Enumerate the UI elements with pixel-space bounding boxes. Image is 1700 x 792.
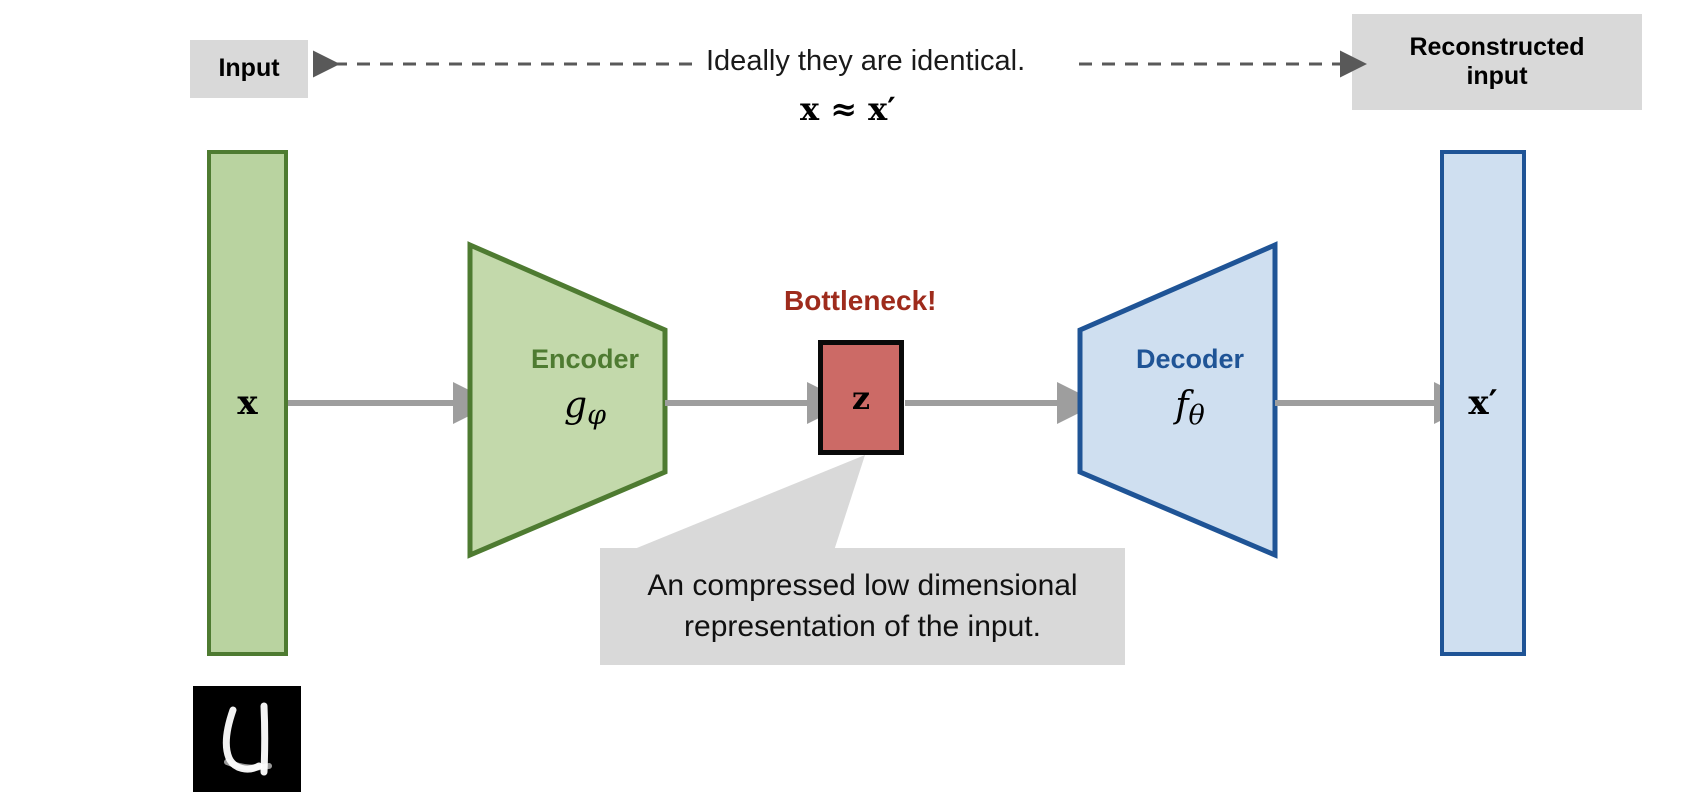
encoder-label-text: Encoder: [531, 344, 639, 374]
callout-line-2: representation of the input.: [684, 607, 1041, 647]
input-digit-glyph: [193, 686, 301, 792]
input-symbol: x: [237, 383, 257, 423]
arrow-bottleneck-to-decoder: [905, 385, 1080, 421]
identical-note: Ideally they are identical.: [706, 45, 1025, 78]
identical-math: x ≈ x′: [800, 90, 896, 128]
reconstructed-label-chip: Reconstructed input: [1352, 14, 1642, 110]
decoder-label: Decoder: [1105, 344, 1275, 375]
callout-line-1: An compressed low dimensional: [647, 566, 1077, 606]
input-digit-image: [193, 686, 301, 792]
arrow-decoder-to-output: [1275, 385, 1455, 421]
callout-box: An compressed low dimensional representa…: [600, 548, 1125, 665]
autoencoder-diagram: Input Reconstructed input Ideally they a…: [0, 0, 1700, 792]
encoder-math: gφ: [505, 385, 665, 426]
dashed-arrow-right: [1075, 46, 1365, 86]
bottleneck-title-text: Bottleneck!: [784, 285, 936, 316]
input-label-chip: Input: [190, 40, 308, 98]
bottleneck-title: Bottleneck!: [784, 285, 936, 317]
output-vector-bar: x′: [1440, 150, 1526, 656]
input-vector-bar: x: [207, 150, 288, 656]
decoder-math: fθ: [1105, 385, 1275, 426]
input-label-text: Input: [218, 54, 279, 84]
encoder-math-subscript: φ: [587, 400, 606, 431]
identical-note-text: Ideally they are identical.: [706, 45, 1025, 77]
reconstructed-label-text: Reconstructed input: [1409, 33, 1584, 92]
identical-math-text: x ≈ x′: [800, 90, 896, 128]
encoder-math-base: g: [564, 385, 587, 426]
decoder-math-base: f: [1175, 385, 1188, 426]
bottleneck-box: z: [818, 340, 904, 455]
decoder-label-text: Decoder: [1136, 344, 1244, 374]
arrow-encoder-to-bottleneck: [665, 385, 830, 421]
decoder-math-subscript: θ: [1189, 400, 1205, 431]
bottleneck-symbol: z: [852, 379, 870, 417]
encoder-label: Encoder: [505, 344, 665, 375]
arrow-input-to-encoder: [288, 385, 478, 421]
output-symbol: x′: [1468, 383, 1497, 423]
dashed-arrow-left: [300, 46, 700, 86]
